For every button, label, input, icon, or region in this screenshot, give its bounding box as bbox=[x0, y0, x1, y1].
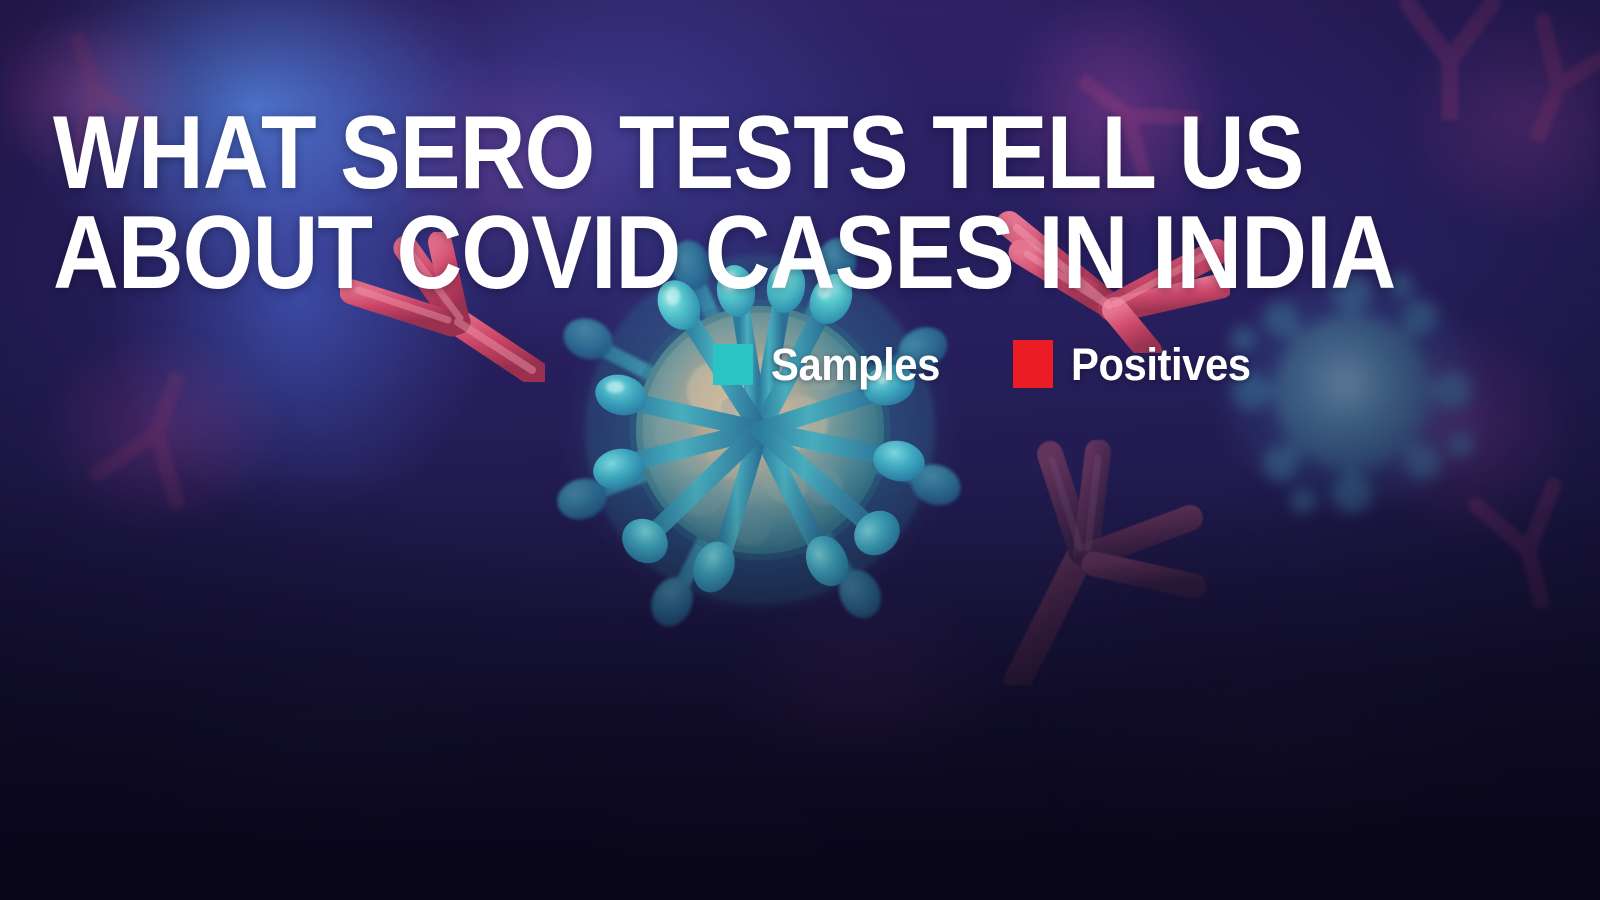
samples-swatch-icon bbox=[713, 344, 753, 385]
page-title-line-1: WHAT SERO TESTS TELL US bbox=[53, 104, 1226, 204]
chart-legend: Samples Positives bbox=[713, 340, 1264, 388]
legend-label-positives: Positives bbox=[1071, 342, 1251, 387]
legend-label-samples: Samples bbox=[771, 342, 940, 387]
page-title: WHAT SERO TESTS TELL US ABOUT COVID CASE… bbox=[53, 104, 1226, 304]
legend-item-positives: Positives bbox=[1013, 340, 1264, 388]
positives-swatch-icon bbox=[1013, 340, 1053, 388]
poster-canvas: WHAT SERO TESTS TELL US ABOUT COVID CASE… bbox=[0, 0, 1600, 900]
legend-item-samples: Samples bbox=[713, 342, 953, 387]
page-title-line-2: ABOUT COVID CASES IN INDIA bbox=[53, 204, 1226, 304]
